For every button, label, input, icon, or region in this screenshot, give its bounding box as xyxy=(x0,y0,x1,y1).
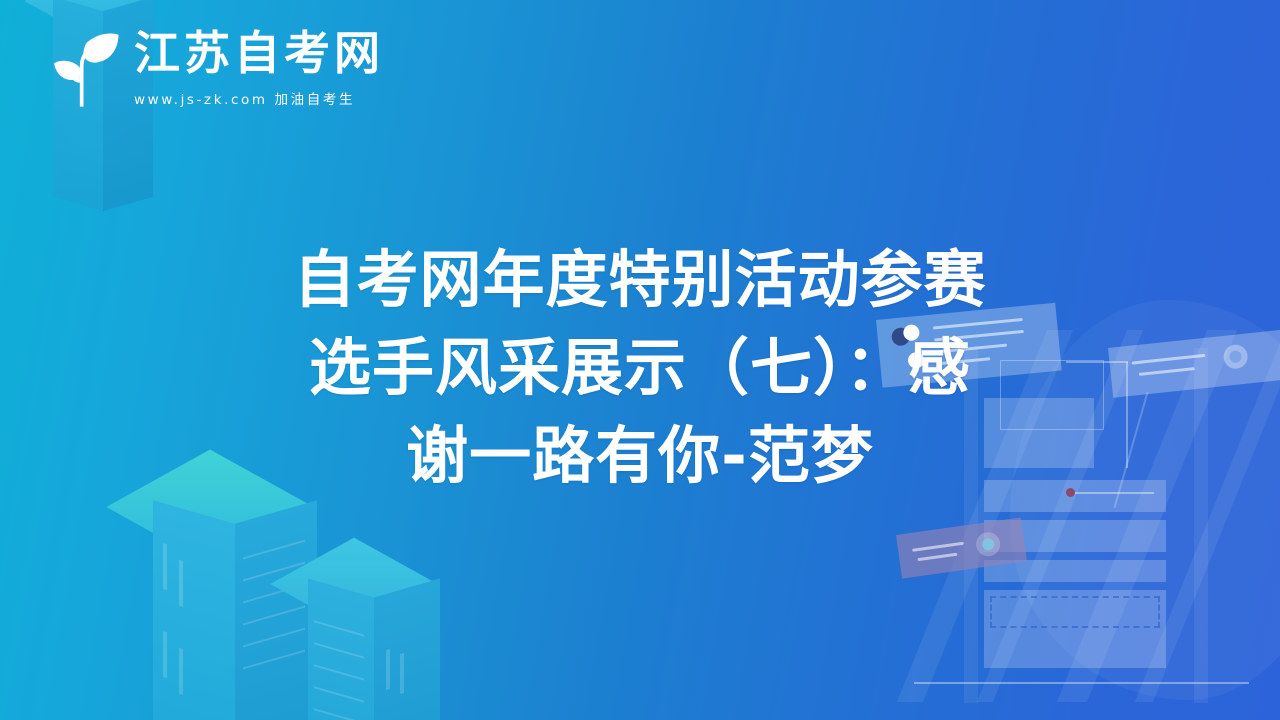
card-line xyxy=(912,542,964,552)
logo-title: 江苏自考网 xyxy=(134,30,384,76)
tower-left-face xyxy=(153,500,235,720)
tower-window-lines xyxy=(153,500,235,720)
tower-window-lines xyxy=(308,579,374,720)
baseline-rule xyxy=(914,682,1249,684)
headline-line-2: 选手风采展示（七）：感 xyxy=(150,324,1130,412)
tower-window-lines xyxy=(374,579,440,720)
tower-right-face xyxy=(374,579,440,720)
promo-banner: 江苏自考网 www.js-zk.com 加油自考生 自考网年度特别活动参赛 选手… xyxy=(0,0,1280,720)
logo-tagline: www.js-zk.com 加油自考生 xyxy=(134,88,384,108)
site-logo[interactable]: 江苏自考网 www.js-zk.com 加油自考生 xyxy=(32,18,384,114)
tower-left-face xyxy=(308,579,374,720)
rack-slab xyxy=(984,560,1166,582)
sprout-icon xyxy=(32,22,124,114)
card-line xyxy=(917,553,957,562)
dashed-placeholder xyxy=(990,596,1160,628)
headline-block: 自考网年度特别活动参赛 选手风采展示（七）：感 谢一路有你-范梦 xyxy=(0,236,1280,500)
headline-line-3: 谢一路有你-范梦 xyxy=(150,412,1130,500)
logo-text-block: 江苏自考网 www.js-zk.com 加油自考生 xyxy=(134,18,384,108)
headline-line-1: 自考网年度特别活动参赛 xyxy=(150,236,1130,324)
iso-tower-small xyxy=(265,570,455,720)
